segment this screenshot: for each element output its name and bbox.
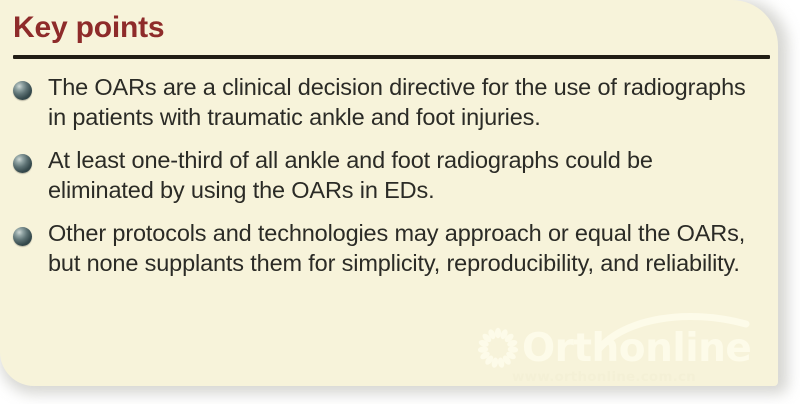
watermark: Orthonline www.orthonline.com.cn (476, 328, 776, 386)
heading-divider (13, 55, 770, 59)
watermark-logo-row: Orthonline (476, 326, 751, 370)
sphere-bullet-icon (13, 227, 32, 246)
list-item: At least one-third of all ankle and foot… (0, 145, 778, 205)
page-title: Key points (13, 11, 164, 44)
sunburst-ring-icon (476, 326, 520, 370)
key-points-list: The OARs are a clinical decision directi… (0, 72, 778, 291)
sphere-bullet-icon (13, 81, 32, 100)
screenshot-stage: Orthonline www.orthonline.com.cn Key poi… (0, 0, 800, 404)
list-item-text: Other protocols and technologies may app… (48, 220, 745, 276)
key-points-panel: Orthonline www.orthonline.com.cn Key poi… (0, 0, 778, 386)
watermark-brand: Orthonline (522, 329, 751, 368)
list-item: Other protocols and technologies may app… (0, 218, 778, 278)
list-item-text: At least one-third of all ankle and foot… (48, 147, 653, 203)
watermark-url: www.orthonline.com.cn (512, 371, 696, 385)
list-item: The OARs are a clinical decision directi… (0, 72, 778, 132)
sphere-bullet-icon (13, 154, 32, 173)
list-item-text: The OARs are a clinical decision directi… (48, 74, 746, 130)
watermark-swoosh-icon (596, 312, 766, 352)
